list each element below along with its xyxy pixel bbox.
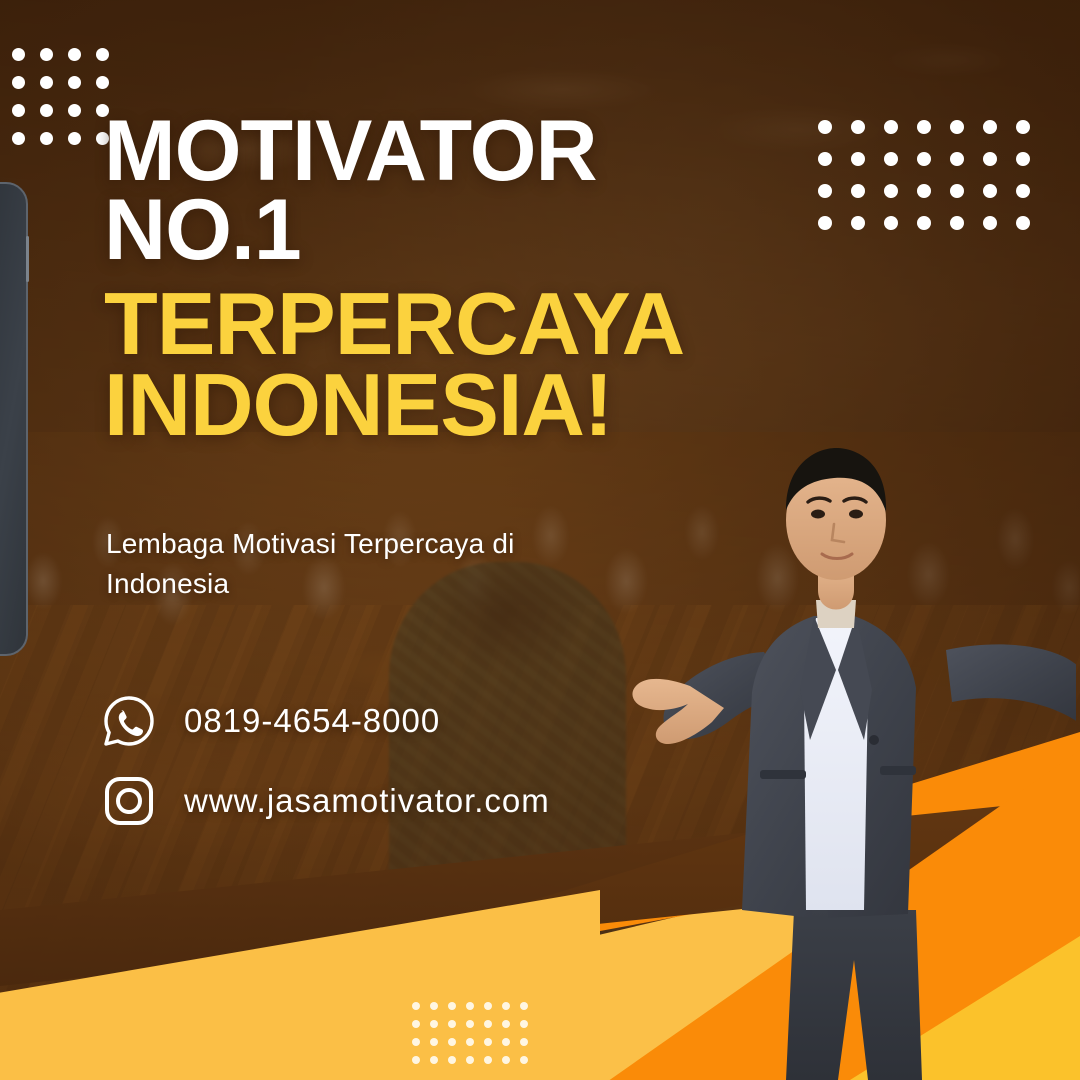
headline-block: MOTIVATOR NO.1 TERPERCAYA INDONESIA!: [104, 112, 824, 446]
dot: [68, 76, 81, 89]
whatsapp-icon[interactable]: [100, 692, 158, 750]
dot: [983, 216, 997, 230]
dot: [950, 152, 964, 166]
headline-line-2: NO.1: [104, 191, 824, 270]
dot: [466, 1056, 474, 1064]
dot-grid-top-right: [818, 120, 1049, 248]
dot: [448, 1020, 456, 1028]
dot: [12, 132, 25, 145]
phone-number[interactable]: 0819-4654-8000: [184, 702, 440, 740]
dot: [412, 1002, 420, 1010]
dot: [466, 1002, 474, 1010]
dot: [484, 1002, 492, 1010]
dot: [950, 184, 964, 198]
dot: [851, 120, 865, 134]
dot: [448, 1038, 456, 1046]
dot: [12, 104, 25, 117]
dot: [884, 184, 898, 198]
dot: [950, 120, 964, 134]
dot: [502, 1002, 510, 1010]
dot: [1016, 216, 1030, 230]
dot: [502, 1038, 510, 1046]
contact-row-website[interactable]: www.jasamotivator.com: [100, 772, 550, 830]
dot: [96, 48, 109, 61]
person-eye-left: [811, 510, 825, 519]
dot: [917, 120, 931, 134]
contact-list: 0819-4654-8000 www.jasamotivator.com: [100, 692, 550, 830]
dot: [917, 216, 931, 230]
dot: [917, 152, 931, 166]
dot: [68, 132, 81, 145]
dot: [412, 1038, 420, 1046]
dot: [983, 120, 997, 134]
dot: [520, 1056, 528, 1064]
dot: [884, 120, 898, 134]
dot: [412, 1020, 420, 1028]
website-url[interactable]: www.jasamotivator.com: [184, 782, 550, 820]
dot: [412, 1056, 420, 1064]
dot: [484, 1020, 492, 1028]
dot: [983, 184, 997, 198]
dot: [884, 152, 898, 166]
person-pocket-left: [760, 770, 806, 779]
contact-row-phone[interactable]: 0819-4654-8000: [100, 692, 550, 750]
dot: [1016, 184, 1030, 198]
dot: [502, 1020, 510, 1028]
dot: [96, 76, 109, 89]
dot: [983, 152, 997, 166]
dot: [40, 132, 53, 145]
dot: [520, 1002, 528, 1010]
dot: [430, 1020, 438, 1028]
dot: [520, 1020, 528, 1028]
headline-line-1: MOTIVATOR: [104, 112, 824, 191]
dot: [448, 1002, 456, 1010]
dot: [40, 104, 53, 117]
dot: [68, 104, 81, 117]
dot: [12, 48, 25, 61]
dot: [950, 216, 964, 230]
dot: [68, 48, 81, 61]
person-motivator-cutout: [616, 440, 1076, 1080]
person-jacket-button: [869, 735, 879, 745]
person-eye-right: [849, 510, 863, 519]
dot: [466, 1038, 474, 1046]
headline-line-4: INDONESIA!: [104, 365, 824, 446]
promo-poster: MOTIVATOR NO.1 TERPERCAYA INDONESIA! Lem…: [0, 0, 1080, 1080]
dot: [448, 1056, 456, 1064]
person-pocket-right: [880, 766, 916, 775]
person-trousers: [786, 910, 922, 1080]
dot: [884, 216, 898, 230]
dot: [1016, 120, 1030, 134]
subtitle-tagline: Lembaga Motivasi Terpercaya di Indonesia: [106, 524, 626, 604]
instagram-icon[interactable]: [100, 772, 158, 830]
dot: [851, 184, 865, 198]
person-right-arm: [946, 644, 1076, 722]
dot: [430, 1038, 438, 1046]
dot: [502, 1056, 510, 1064]
dot: [430, 1056, 438, 1064]
dot: [466, 1020, 474, 1028]
dot-grid-bottom: [412, 1002, 538, 1074]
dot: [484, 1056, 492, 1064]
dot: [851, 152, 865, 166]
left-edge-device-panel: [0, 182, 28, 656]
dot: [40, 48, 53, 61]
dot: [1016, 152, 1030, 166]
dot: [12, 76, 25, 89]
dot: [484, 1038, 492, 1046]
dot: [520, 1038, 528, 1046]
dot: [917, 184, 931, 198]
headline-line-3: TERPERCAYA: [104, 284, 824, 365]
dot: [40, 76, 53, 89]
dot: [851, 216, 865, 230]
dot: [430, 1002, 438, 1010]
